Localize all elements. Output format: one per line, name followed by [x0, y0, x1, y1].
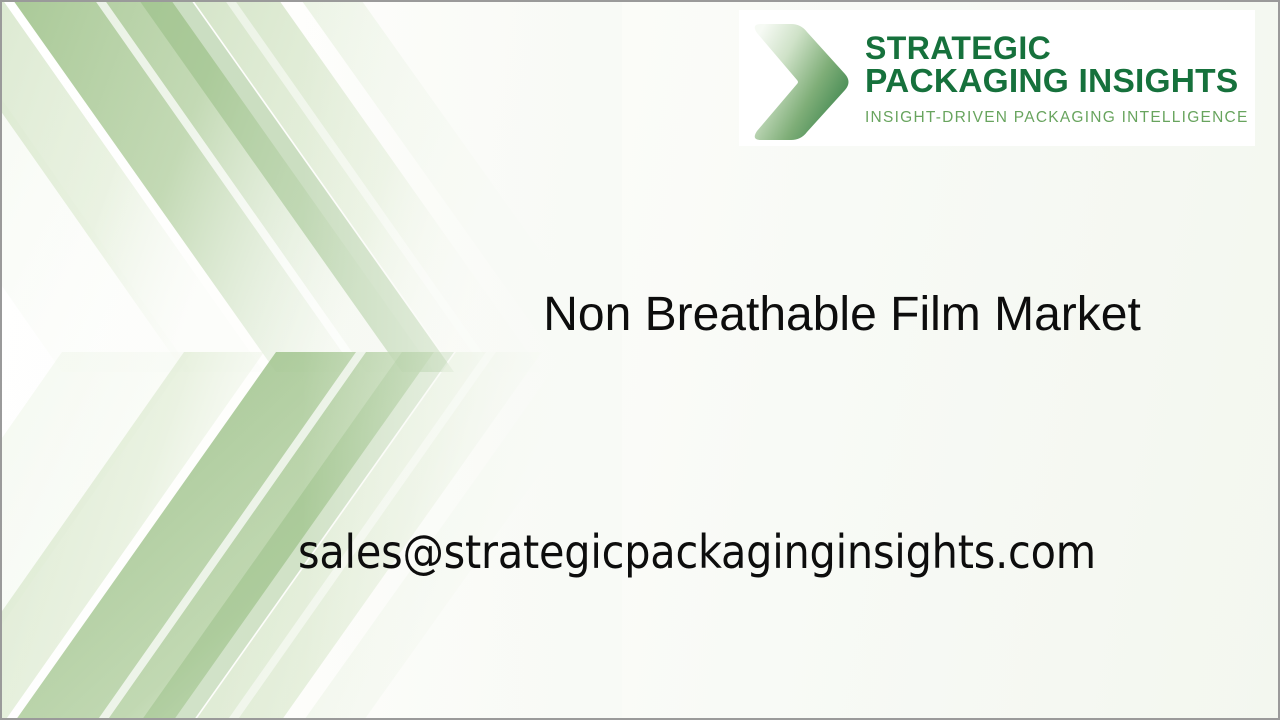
logo-mark [739, 10, 861, 146]
chevron-right-icon [745, 18, 857, 146]
contact-email: sales@strategicpackaginginsights.com [298, 523, 1096, 581]
logo-wordmark-line2: PACKAGING INSIGHTS [865, 65, 1255, 99]
chevron-stripes-svg [2, 2, 622, 720]
logo-text-block: STRATEGIC PACKAGING INSIGHTS INSIGHT-DRI… [861, 10, 1255, 146]
presentation-slide: STRATEGIC PACKAGING INSIGHTS INSIGHT-DRI… [0, 0, 1280, 720]
logo-wordmark-line1: STRATEGIC [865, 31, 1255, 65]
chevron-stripes-graphic [2, 2, 622, 720]
logo-tagline: INSIGHT-DRIVEN PACKAGING INTELLIGENCE [865, 109, 1255, 126]
company-logo: STRATEGIC PACKAGING INSIGHTS INSIGHT-DRI… [739, 10, 1255, 146]
page-title: Non Breathable Film Market [442, 289, 1242, 341]
